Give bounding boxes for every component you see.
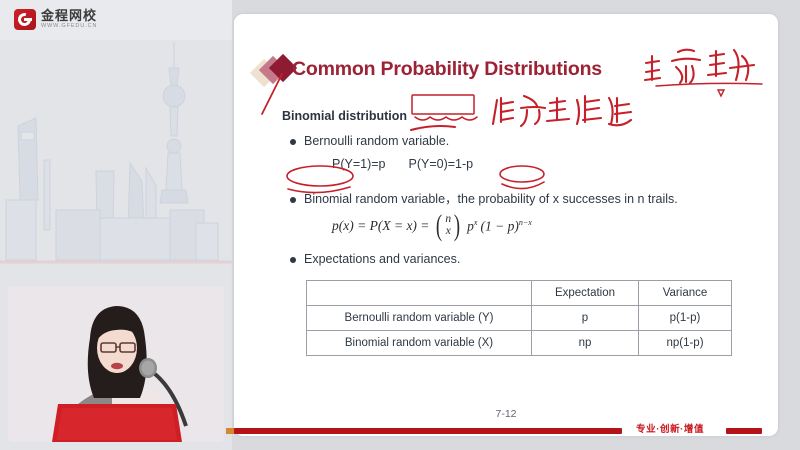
bernoulli-probability-line: P(Y=1)=p P(Y=0)=1-p xyxy=(332,157,473,171)
eq-left: P(Y=1)=p xyxy=(332,157,386,171)
binomial-pmf-formula: p(x) = P(X = x) = ( n x ) px (1 − p)n−x xyxy=(332,214,532,238)
table-header-blank xyxy=(307,281,532,306)
brand-url: WWW.GFEDU.CN xyxy=(41,24,97,30)
formula-lhs: p(x) = P(X = x) = xyxy=(332,218,429,234)
left-panel: 金程网校 WWW.GFEDU.CN xyxy=(0,0,232,450)
gfedu-g-logo-icon xyxy=(14,9,36,30)
table-header-variance: Variance xyxy=(639,281,732,306)
bullet-label: Bernoulli random variable. xyxy=(304,134,449,150)
footer-slogan: 专业·创新·增值 xyxy=(636,421,704,435)
handwriting-annotation-title xyxy=(642,36,772,98)
instructor-video-thumbnail[interactable] xyxy=(8,286,224,442)
cell-bernoulli-variance: p(1-p) xyxy=(639,306,732,331)
expectation-variance-table: Expectation Variance Bernoulli random va… xyxy=(306,280,732,356)
bullet-dot-icon xyxy=(290,197,296,203)
cell-binomial-expectation: np xyxy=(532,331,639,356)
instructor-video-image xyxy=(8,286,224,442)
table-header-row: Expectation Variance xyxy=(307,281,732,306)
cell-binomial-variance: np(1-p) xyxy=(639,331,732,356)
brand-logo[interactable]: 金程网校 WWW.GFEDU.CN xyxy=(14,9,97,30)
table-row: Bernoulli random variable (Y) p p(1-p) xyxy=(307,306,732,331)
coef-bottom: x xyxy=(446,226,451,238)
lecture-slide: Common Probability Distributions Binomia… xyxy=(234,14,778,436)
footer-bar-tail xyxy=(726,428,762,434)
slide-page-number: 7-12 xyxy=(234,408,778,420)
table-header-expectation: Expectation xyxy=(532,281,639,306)
screen-root: 金程网校 WWW.GFEDU.CN xyxy=(0,0,800,450)
bullet-item-bernoulli: Bernoulli random variable. xyxy=(290,134,449,150)
brand-name-cn: 金程网校 xyxy=(41,9,97,22)
bullet-item-expectations: Expectations and variances. xyxy=(290,252,460,268)
slide-title: Common Probability Distributions xyxy=(292,58,602,81)
brand-text: 金程网校 WWW.GFEDU.CN xyxy=(41,9,97,30)
bullet-item-binomial: Binomial random variable，the probability… xyxy=(290,192,678,208)
binomial-coefficient: ( n x ) xyxy=(434,214,462,238)
right-paren-icon: ) xyxy=(454,215,460,237)
cell-bernoulli-expectation: p xyxy=(532,306,639,331)
footer-bar-main xyxy=(234,428,622,434)
shanghai-skyline-watermark xyxy=(0,40,232,290)
bullet-label: Binomial random variable，the probability… xyxy=(304,192,678,208)
bullet-dot-icon xyxy=(290,139,296,145)
table-row: Binomial random variable (X) np np(1-p) xyxy=(307,331,732,356)
row-label-binomial: Binomial random variable (X) xyxy=(307,331,532,356)
formula-tail-term: (1 − p)n−x xyxy=(480,218,531,235)
row-label-bernoulli: Bernoulli random variable (Y) xyxy=(307,306,532,331)
brand-bar: 金程网校 WWW.GFEDU.CN xyxy=(0,0,232,40)
formula-p-term: px xyxy=(467,218,477,235)
bullet-label: Expectations and variances. xyxy=(304,252,460,268)
bullet-dot-icon xyxy=(290,257,296,263)
eq-right: P(Y=0)=1-p xyxy=(408,157,473,171)
left-paren-icon: ( xyxy=(436,215,442,237)
slide-subheading: Binomial distribution xyxy=(282,109,407,123)
